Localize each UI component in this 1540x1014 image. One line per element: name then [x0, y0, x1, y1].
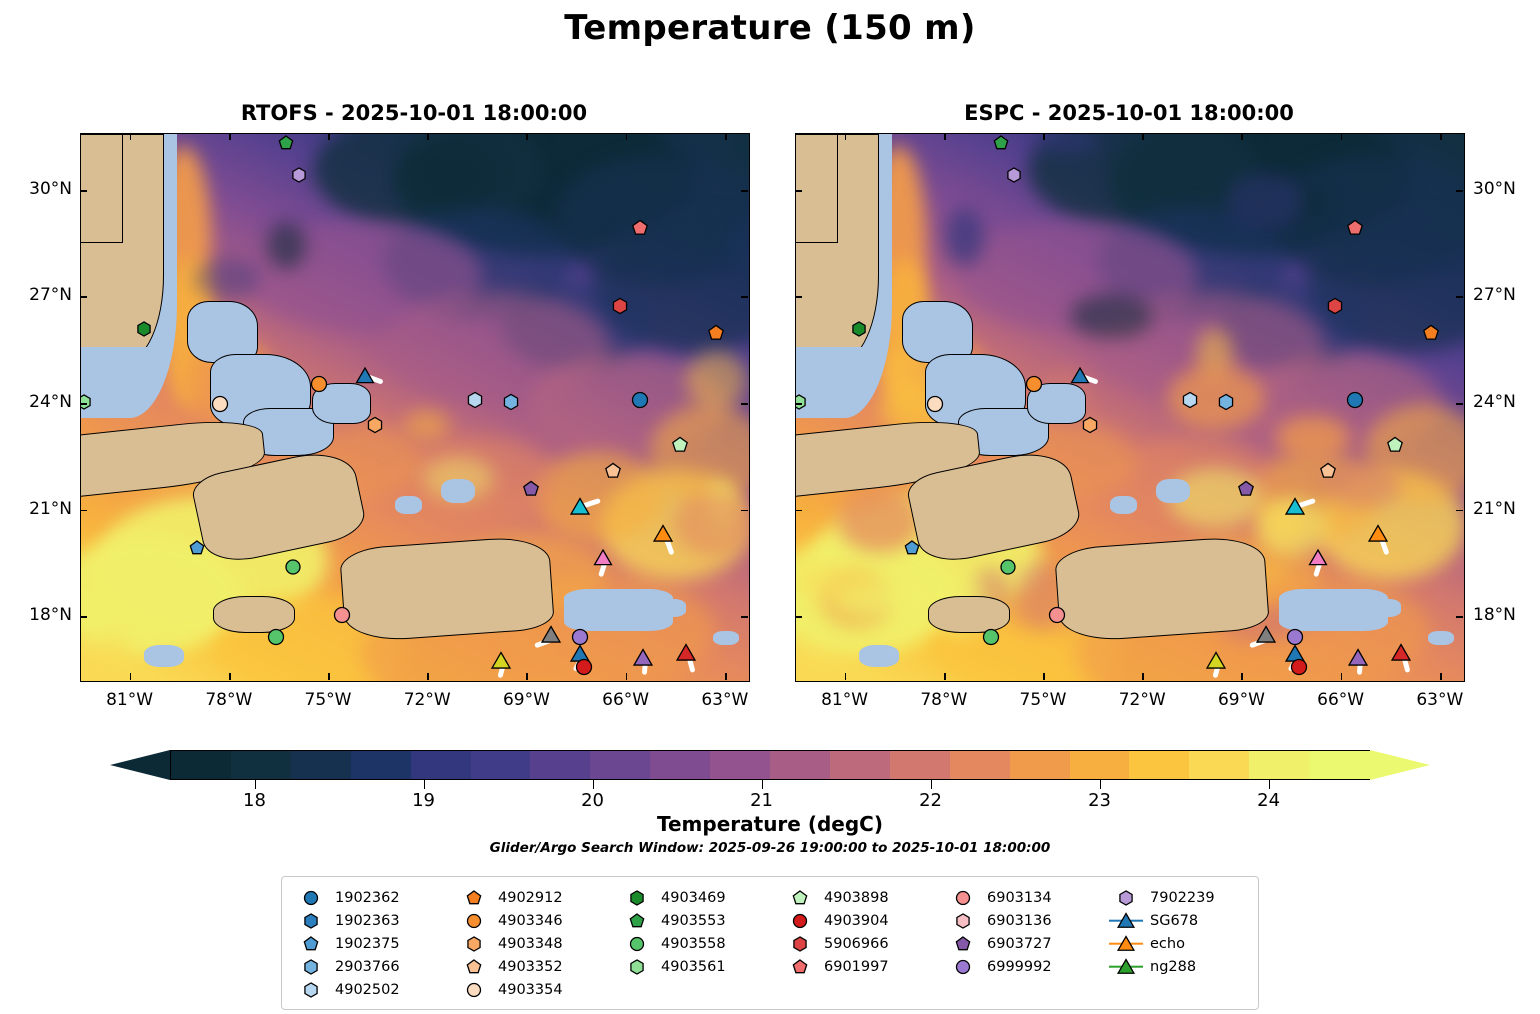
platform-marker-4903348[interactable] — [1081, 416, 1099, 434]
x-axis-tick — [1043, 673, 1045, 680]
x-axis-tick — [526, 133, 528, 140]
legend-item-4903558[interactable]: 4903558 — [620, 932, 783, 955]
triangle-marker-icon — [1109, 911, 1143, 931]
platform-marker-6901997[interactable] — [631, 219, 649, 237]
legend-item-4903904[interactable]: 4903904 — [783, 909, 946, 932]
legend-item-label: 4903561 — [661, 959, 726, 975]
temperature-contour-blob — [686, 351, 748, 410]
temperature-contour-blob — [1070, 294, 1152, 337]
colorbar-tick-label: 23 — [1088, 790, 1111, 811]
circle-marker-icon — [457, 980, 491, 1000]
shallow-shelf — [859, 645, 899, 666]
landmass — [796, 134, 838, 243]
platform-marker-4903553[interactable] — [992, 134, 1009, 151]
platform-marker-6901997[interactable] — [1346, 219, 1364, 237]
colorbar-tick — [255, 780, 257, 789]
x-axis-tick-label: 75°W — [288, 690, 368, 710]
temperature-contour-blob — [796, 562, 874, 601]
platform-marker-6903727[interactable] — [522, 480, 540, 498]
platform-marker-sg663[interactable] — [1255, 624, 1276, 645]
platform-marker-4903346[interactable] — [309, 375, 328, 394]
legend-item-label: 1902362 — [335, 890, 400, 906]
pentagon-marker-icon — [620, 911, 654, 931]
colorbar-segment — [231, 751, 292, 779]
y-axis-tick — [795, 616, 802, 618]
legend-item-1902363[interactable]: 1902363 — [294, 909, 457, 932]
platform-marker-4903553[interactable] — [277, 134, 294, 151]
x-axis-tick — [1440, 673, 1442, 680]
x-axis-tick — [1241, 673, 1243, 680]
circle-marker-icon — [457, 911, 491, 931]
shallow-shelf — [713, 631, 739, 645]
legend-item-4903898[interactable]: 4903898 — [783, 886, 946, 909]
y-axis-tick-label: 24°N — [2, 392, 72, 412]
y-axis-tick — [741, 510, 748, 512]
legend-item-4903553[interactable]: 4903553 — [620, 909, 783, 932]
triangle-marker-icon — [1109, 957, 1143, 977]
y-axis-tick-label: 30°N — [1473, 179, 1540, 199]
platform-marker-5906966[interactable] — [611, 297, 629, 315]
hexagon-marker-icon — [294, 980, 328, 1000]
circle-marker-icon — [620, 934, 654, 954]
legend-item-label: 4903354 — [498, 982, 563, 998]
legend-item-label: 4903898 — [824, 890, 889, 906]
colorbar-tick-label: 20 — [581, 790, 604, 811]
pentagon-marker-icon — [457, 888, 491, 908]
legend-item-label: 6903727 — [987, 936, 1052, 952]
pentagon-marker-icon — [783, 957, 817, 977]
legend-item-label: 4903346 — [498, 913, 563, 929]
platform-marker-4903352[interactable] — [604, 462, 622, 480]
platform-marker-4903898[interactable] — [670, 436, 688, 454]
platform-marker-1902362[interactable] — [1345, 391, 1364, 410]
platform-marker-6903727[interactable] — [1237, 480, 1255, 498]
colorbar-segment — [291, 751, 352, 779]
platform-marker-1902375[interactable] — [903, 539, 920, 556]
temperature-contour-blob — [194, 258, 259, 300]
platform-marker-4902502[interactable] — [465, 391, 483, 409]
y-axis-tick — [80, 190, 87, 192]
legend-item-4903469[interactable]: 4903469 — [620, 886, 783, 909]
platform-marker-sg668[interactable] — [1285, 496, 1306, 517]
platform-marker-4903469[interactable] — [850, 321, 867, 338]
y-axis-tick-label: 24°N — [1473, 392, 1540, 412]
y-axis-tick — [795, 296, 802, 298]
temperature-contour-blob — [267, 222, 307, 268]
y-axis-tick — [795, 190, 802, 192]
x-axis-tick — [1142, 673, 1144, 680]
y-axis-tick — [1456, 403, 1463, 405]
map-canvas-espc — [796, 134, 1464, 681]
temperature-contour-blob — [402, 142, 497, 208]
x-axis-tick — [1241, 133, 1243, 140]
legend-item-4903354[interactable]: 4903354 — [457, 978, 620, 1001]
x-axis-tick — [427, 133, 429, 140]
legend-item-6903136[interactable]: 6903136 — [946, 909, 1109, 932]
platform-legend: 1902362490291249034694903898690313479022… — [281, 876, 1259, 1010]
circle-marker-icon — [946, 888, 980, 908]
platform-marker-4903558[interactable] — [998, 558, 1016, 576]
shallow-shelf — [1428, 631, 1454, 645]
colorbar-tick — [1269, 780, 1271, 789]
colorbar-extend-left — [110, 750, 170, 780]
colorbar-segment — [890, 751, 951, 779]
y-axis-tick-label: 21°N — [2, 499, 72, 519]
legend-item-label: SG678 — [1150, 913, 1198, 929]
platform-marker-ng665[interactable] — [632, 647, 653, 668]
colorbar-label: Temperature (degC) — [0, 812, 1540, 836]
colorbar-segment — [1309, 751, 1370, 779]
platform-marker-4903354[interactable] — [210, 394, 229, 413]
x-axis-tick — [526, 673, 528, 680]
pentagon-marker-icon — [457, 957, 491, 977]
platform-marker-sg678[interactable] — [1070, 365, 1090, 385]
colorbar-segment — [171, 751, 232, 779]
x-axis-tick-label: 78°W — [904, 690, 984, 710]
x-axis-tick — [328, 673, 330, 680]
x-axis-tick — [725, 133, 727, 140]
colorbar-segment — [351, 751, 412, 779]
shallow-shelf — [441, 479, 474, 504]
map-espc[interactable] — [795, 133, 1465, 682]
platform-marker-2903766[interactable] — [1217, 393, 1235, 411]
y-axis-tick-label: 30°N — [2, 179, 72, 199]
x-axis-tick-label: 81°W — [805, 690, 885, 710]
y-axis-tick — [1456, 616, 1463, 618]
legend-item-label: 6999992 — [987, 959, 1052, 975]
y-axis-tick — [80, 296, 87, 298]
platform-marker-4902912[interactable] — [1422, 324, 1440, 342]
platform-marker-4903469[interactable] — [135, 321, 152, 338]
y-axis-tick — [741, 403, 748, 405]
shallow-shelf — [653, 599, 686, 617]
x-axis-tick-label: 66°W — [586, 690, 666, 710]
y-axis-tick-label: 21°N — [1473, 499, 1540, 519]
legend-item-label: 6901997 — [824, 959, 889, 975]
colorbar-segment — [1070, 751, 1131, 779]
x-axis-tick — [229, 673, 231, 680]
y-axis-tick-label: 27°N — [2, 285, 72, 305]
temperature-contour-blob — [674, 492, 749, 556]
hexagon-marker-icon — [620, 957, 654, 977]
legend-item-label: 4903469 — [661, 890, 726, 906]
shallow-shelf — [1156, 479, 1189, 504]
colorbar-segment — [1129, 751, 1190, 779]
colorbar-segment — [590, 751, 651, 779]
legend-item-6999992[interactable]: 6999992 — [946, 955, 1109, 978]
y-axis-tick — [741, 190, 748, 192]
legend-item-label: echo — [1150, 936, 1185, 952]
legend-item-4902912[interactable]: 4902912 — [457, 886, 620, 909]
legend-item-label: 4903348 — [498, 936, 563, 952]
legend-item-echo[interactable]: echo — [1109, 932, 1272, 955]
colorbar-tick — [424, 780, 426, 789]
legend-item-label: 4903553 — [661, 913, 726, 929]
platform-marker-ng783[interactable] — [1308, 548, 1328, 568]
legend-item-6903134[interactable]: 6903134 — [946, 886, 1109, 909]
figure-title: Temperature (150 m) — [0, 8, 1540, 48]
x-axis-tick — [626, 673, 628, 680]
colorbar-segment — [530, 751, 591, 779]
shallow-shelf — [395, 496, 421, 514]
temperature-contour-blob — [1226, 173, 1304, 231]
legend-item-4903348[interactable]: 4903348 — [457, 932, 620, 955]
colorbar-segment — [710, 751, 771, 779]
legend-item-label: 4903558 — [661, 936, 726, 952]
legend-item-1902375[interactable]: 1902375 — [294, 932, 457, 955]
platform-marker-4903558[interactable] — [283, 558, 301, 576]
platform-marker-7902239[interactable] — [1006, 166, 1023, 183]
x-axis-tick — [944, 673, 946, 680]
pentagon-marker-icon — [946, 934, 980, 954]
landmass — [339, 535, 555, 644]
platform-marker-7902239[interactable] — [291, 166, 308, 183]
hexagon-marker-icon — [620, 888, 654, 908]
map-rtofs[interactable] — [80, 133, 750, 682]
legend-item-label: 6903136 — [987, 913, 1052, 929]
legend-item-4903346[interactable]: 4903346 — [457, 909, 620, 932]
x-axis-tick — [944, 133, 946, 140]
x-axis-tick — [1043, 133, 1045, 140]
x-axis-tick — [845, 673, 847, 680]
y-axis-tick — [741, 296, 748, 298]
y-axis-tick — [1456, 190, 1463, 192]
legend-item-label: ng288 — [1150, 959, 1196, 975]
platform-marker-4903561b[interactable] — [266, 627, 285, 646]
legend-item-label: 1902375 — [335, 936, 400, 952]
panel-title-rtofs: RTOFS - 2025-10-01 18:00:00 — [80, 101, 748, 125]
platform-marker-4903904[interactable] — [574, 657, 593, 676]
legend-item-label: 4903352 — [498, 959, 563, 975]
x-axis-tick — [725, 673, 727, 680]
x-axis-tick — [1341, 673, 1343, 680]
shallow-shelf — [1110, 496, 1136, 514]
legend-grid: 1902362490291249034694903898690313479022… — [294, 886, 1248, 1001]
colorbar-tick — [1100, 780, 1102, 789]
legend-item-label: 4903904 — [824, 913, 889, 929]
legend-item-6901997[interactable]: 6901997 — [783, 955, 946, 978]
platform-marker-ng665[interactable] — [1347, 647, 1368, 668]
y-axis-tick-label: 18°N — [1473, 605, 1540, 625]
colorbar-tick-label: 22 — [919, 790, 942, 811]
colorbar-segment — [950, 751, 1011, 779]
colorbar-gradient — [170, 750, 1370, 780]
colorbar-tick — [931, 780, 933, 789]
platform-marker-4903904[interactable] — [1289, 657, 1308, 676]
temperature-contour-blob — [404, 410, 450, 440]
x-axis-tick-label: 69°W — [1201, 690, 1281, 710]
x-axis-tick — [328, 133, 330, 140]
x-axis-tick — [130, 133, 132, 140]
x-axis-tick-label: 69°W — [486, 690, 566, 710]
legend-item-label: 6903134 — [987, 890, 1052, 906]
platform-marker-ng783[interactable] — [593, 548, 613, 568]
platform-marker-4903898[interactable] — [1385, 436, 1403, 454]
colorbar-tick — [762, 780, 764, 789]
colorbar-tick-label: 21 — [750, 790, 773, 811]
x-axis-tick — [229, 133, 231, 140]
y-axis-tick-label: 18°N — [2, 605, 72, 625]
x-axis-tick — [427, 673, 429, 680]
colorbar: 18192021222324 — [110, 750, 1430, 780]
colorbar-segment — [1249, 751, 1310, 779]
colorbar-segment — [650, 751, 711, 779]
circle-marker-icon — [294, 888, 328, 908]
legend-item-sg678[interactable]: SG678 — [1109, 909, 1272, 932]
hexagon-marker-icon — [946, 911, 980, 931]
pentagon-marker-icon — [783, 888, 817, 908]
x-axis-tick — [1341, 133, 1343, 140]
x-axis-tick-label: 66°W — [1301, 690, 1381, 710]
platform-marker-ng615[interactable] — [1390, 642, 1411, 663]
colorbar-tick — [593, 780, 595, 789]
platform-marker-2903766[interactable] — [502, 393, 520, 411]
x-axis-tick-label: 72°W — [1102, 690, 1182, 710]
y-axis-tick — [741, 616, 748, 618]
hexagon-marker-icon — [1109, 888, 1143, 908]
colorbar-tick-label: 18 — [243, 790, 266, 811]
x-axis-tick — [626, 133, 628, 140]
temperature-contour-blob — [96, 634, 130, 670]
y-axis-tick — [1456, 296, 1463, 298]
x-axis-tick-label: 81°W — [90, 690, 170, 710]
platform-marker-6903134[interactable] — [333, 606, 352, 625]
panel-title-espc: ESPC - 2025-10-01 18:00:00 — [795, 101, 1463, 125]
hexagon-marker-icon — [294, 957, 328, 977]
x-axis-tick-label: 63°W — [1400, 690, 1480, 710]
legend-item-2903766[interactable]: 2903766 — [294, 955, 457, 978]
map-canvas-rtofs — [81, 134, 749, 681]
platform-marker-6903134[interactable] — [1048, 606, 1067, 625]
temperature-contour-blob — [535, 451, 665, 541]
platform-marker-sg665[interactable] — [1205, 651, 1226, 672]
platform-marker-4902912[interactable] — [707, 324, 725, 342]
colorbar-tick-label: 19 — [412, 790, 435, 811]
y-axis-tick — [795, 403, 802, 405]
shallow-shelf — [144, 645, 184, 666]
legend-item-4903561[interactable]: 4903561 — [620, 955, 783, 978]
platform-marker-sg678[interactable] — [355, 365, 375, 385]
legend-item-ng288[interactable]: ng288 — [1109, 955, 1272, 978]
y-axis-tick — [80, 403, 87, 405]
legend-item-4902502[interactable]: 4902502 — [294, 978, 457, 1001]
legend-item-1902362[interactable]: 1902362 — [294, 886, 457, 909]
colorbar-segment — [1010, 751, 1071, 779]
landmass — [81, 134, 123, 243]
x-axis-tick-label: 63°W — [685, 690, 765, 710]
colorbar-segment — [830, 751, 891, 779]
shallow-shelf — [1368, 599, 1401, 617]
platform-marker-sg668[interactable] — [570, 496, 591, 517]
platform-marker-5906966[interactable] — [1326, 297, 1344, 315]
legend-item-label: 7902239 — [1150, 890, 1215, 906]
platform-marker-echo[interactable] — [1367, 523, 1388, 544]
x-axis-tick-label: 75°W — [1003, 690, 1083, 710]
platform-marker-4903352[interactable] — [1319, 462, 1337, 480]
legend-item-7902239[interactable]: 7902239 — [1109, 886, 1272, 909]
legend-item-label: 4902912 — [498, 890, 563, 906]
x-axis-tick-label: 78°W — [189, 690, 269, 710]
circle-marker-icon — [783, 911, 817, 931]
landmass — [1054, 535, 1270, 644]
legend-item-label: 4902502 — [335, 982, 400, 998]
colorbar-segment — [411, 751, 472, 779]
legend-item-label: 2903766 — [335, 959, 400, 975]
legend-item-5906966[interactable]: 5906966 — [783, 932, 946, 955]
colorbar-extend-right — [1370, 750, 1430, 780]
legend-item-6903727[interactable]: 6903727 — [946, 932, 1109, 955]
y-axis-tick — [795, 510, 802, 512]
colorbar-segment — [471, 751, 532, 779]
platform-marker-1902375[interactable] — [188, 539, 205, 556]
y-axis-tick — [80, 510, 87, 512]
platform-marker-4903354[interactable] — [925, 394, 944, 413]
legend-item-4903352[interactable]: 4903352 — [457, 955, 620, 978]
search-window-subtitle: Glider/Argo Search Window: 2025-09-26 19… — [0, 840, 1540, 856]
circle-marker-icon — [946, 957, 980, 977]
x-axis-tick — [130, 673, 132, 680]
platform-marker-echo[interactable] — [652, 523, 673, 544]
legend-item-label: 1902363 — [335, 913, 400, 929]
temperature-contour-blob — [945, 208, 984, 266]
platform-marker-ng615[interactable] — [675, 642, 696, 663]
platform-marker-4903561b[interactable] — [981, 627, 1000, 646]
colorbar-segment — [770, 751, 831, 779]
platform-marker-sg665[interactable] — [490, 651, 511, 672]
hexagon-marker-icon — [457, 934, 491, 954]
platform-marker-4903346[interactable] — [1024, 375, 1043, 394]
y-axis-tick — [1456, 510, 1463, 512]
x-axis-tick-label: 72°W — [387, 690, 467, 710]
platform-marker-4903348[interactable] — [366, 416, 384, 434]
triangle-marker-icon — [1109, 934, 1143, 954]
colorbar-tick-label: 24 — [1257, 790, 1280, 811]
y-axis-tick-label: 27°N — [1473, 285, 1540, 305]
pentagon-marker-icon — [294, 934, 328, 954]
x-axis-tick — [1440, 133, 1442, 140]
hexagon-marker-icon — [294, 911, 328, 931]
hexagon-marker-icon — [783, 934, 817, 954]
colorbar-segment — [1189, 751, 1250, 779]
platform-marker-sg663[interactable] — [540, 624, 561, 645]
platform-marker-1902362[interactable] — [630, 391, 649, 410]
y-axis-tick — [80, 616, 87, 618]
platform-marker-4902502[interactable] — [1180, 391, 1198, 409]
legend-item-label: 5906966 — [824, 936, 889, 952]
x-axis-tick — [845, 133, 847, 140]
x-axis-tick — [1142, 133, 1144, 140]
